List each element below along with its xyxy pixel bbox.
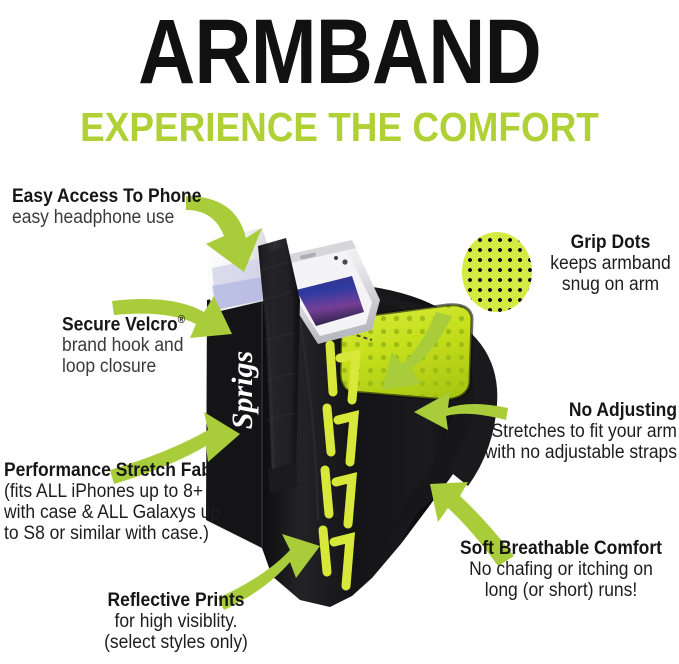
grip-dots-swatch [462, 232, 532, 312]
callout-secure-velcro-line-1: loop closure [62, 356, 185, 377]
callout-secure-velcro-title: Secure Velcro® [62, 310, 185, 335]
callout-no-adjusting: No Adjusting Stretches to fit your arm w… [459, 400, 677, 463]
callout-grip-dots: Grip Dots keeps armband snug on arm [542, 232, 679, 295]
svg-text:Sprigs: Sprigs [226, 351, 259, 429]
callout-no-adjusting-line-1: with no adjustable straps [476, 442, 677, 463]
infographic-root: ARMBAND EXPERIENCE THE COMFORT [0, 0, 679, 664]
phone-rear [208, 228, 268, 312]
callout-stretch-fabric-line-1: with case & ALL Galaxys up [4, 502, 233, 523]
callout-no-adjusting-line-0: Stretches to fit your arm [476, 421, 677, 442]
callout-soft-comfort-line-1: long (or short) runs! [454, 580, 667, 601]
callout-soft-comfort: Soft Breathable Comfort No chafing or it… [445, 538, 677, 601]
callout-reflective-prints-line-1: (select styles only) [75, 632, 277, 653]
callout-soft-comfort-title: Soft Breathable Comfort [454, 538, 667, 559]
callout-secure-velcro: Secure Velcro® brand hook and loop closu… [62, 310, 196, 377]
callout-easy-access-title: Easy Access To Phone [12, 186, 201, 207]
brand-logo: Sprigs [226, 351, 259, 429]
callout-reflective-prints-line-0: for high visiblity. [75, 611, 277, 632]
registered-trademark-icon: ® [178, 314, 185, 326]
callout-reflective-prints: Reflective Prints for high visiblity. (s… [66, 590, 286, 653]
callout-reflective-prints-title: Reflective Prints [75, 590, 277, 611]
callout-soft-comfort-line-0: No chafing or itching on [454, 559, 667, 580]
callout-stretch-fabric-line-2: to S8 or similar with case.) [4, 523, 233, 544]
callout-secure-velcro-title-text: Secure Velcro [62, 314, 178, 335]
callout-grip-dots-line-1: snug on arm [547, 274, 673, 295]
callout-easy-access-line-0: easy headphone use [12, 207, 201, 228]
callout-grip-dots-line-0: keeps armband [547, 253, 673, 274]
callout-secure-velcro-line-0: brand hook and [62, 335, 185, 356]
callout-stretch-fabric-title: Performance Stretch Fabric [4, 460, 233, 481]
callout-grip-dots-title: Grip Dots [547, 232, 673, 253]
callout-stretch-fabric-line-0: (fits ALL iPhones up to 8+ [4, 481, 233, 502]
callout-stretch-fabric: Performance Stretch Fabric (fits ALL iPh… [4, 460, 253, 544]
grip-dots-pattern [462, 232, 532, 312]
callout-easy-access: Easy Access To Phone easy headphone use [12, 186, 218, 228]
callout-no-adjusting-title: No Adjusting [476, 400, 677, 421]
